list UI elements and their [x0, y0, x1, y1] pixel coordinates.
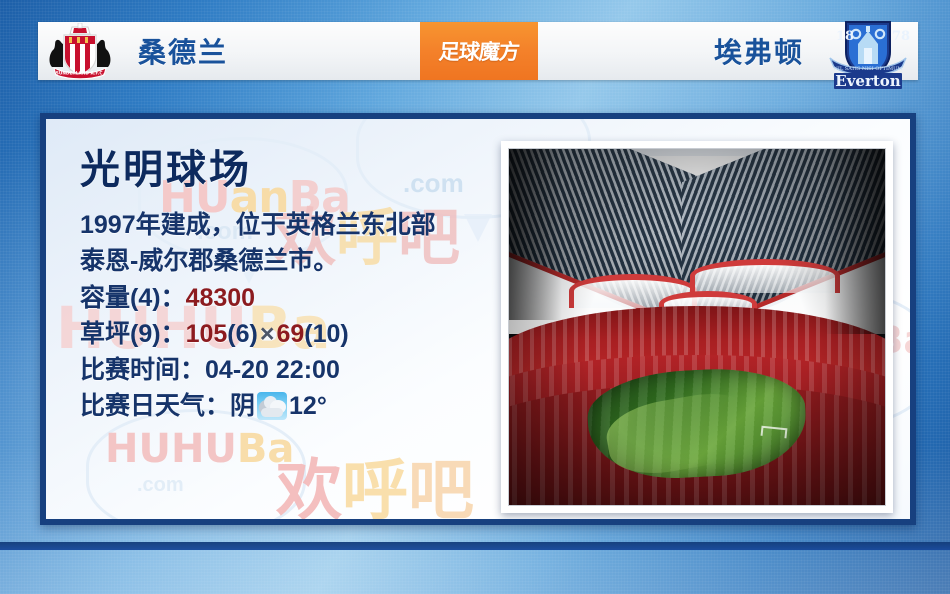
svg-text:Everton: Everton: [835, 72, 901, 90]
pitch-length-rank: (6): [227, 320, 258, 348]
everton-fc-crest: 18 78 NIL SATIS NISI OPTIMUM Everton: [820, 14, 916, 90]
watermark-cn-2: 欢呼吧: [276, 437, 474, 525]
weather-label: 比赛日天气：: [80, 392, 230, 420]
watermark-cn-huan-2: 欢: [276, 452, 342, 525]
pitch-length: 105: [186, 320, 228, 348]
weather-temperature: 12°: [289, 392, 327, 420]
stadium-info-card: HUanBa .com .com 欢呼吧 HUHUBa HUanBa .com …: [40, 113, 916, 525]
home-team-name: 桑德兰: [138, 31, 228, 71]
pitch-multiply-symbol: ×: [258, 320, 277, 348]
stadium-photo: [508, 148, 886, 506]
watermark-text-huhuba-2: HUHUBa: [105, 426, 294, 472]
pitch-size-line: 草坪(9)：105(6)×69(10): [80, 316, 510, 352]
pitch-width-rank: (10): [304, 320, 348, 348]
cloudy-icon: [257, 392, 287, 420]
sunderland-afc-crest: SUNDERLAND A.F.C.: [44, 23, 116, 79]
watermark-cn-ba-2: 吧: [408, 452, 474, 525]
capacity-value: 48300: [186, 284, 256, 312]
stadium-location-line: 泰恩-威尔郡桑德兰市。: [80, 243, 510, 279]
home-team-block[interactable]: SUNDERLAND A.F.C. 桑德兰: [38, 22, 228, 80]
footer-divider: [0, 542, 950, 550]
capacity-label: 容量(4)：: [80, 284, 186, 312]
match-weather-line: 比赛日天气：阴12°: [80, 388, 510, 424]
svg-text:SUNDERLAND A.F.C.: SUNDERLAND A.F.C.: [56, 71, 105, 77]
stadium-info-text: 光明球场 1997年建成，位于英格兰东北部 泰恩-威尔郡桑德兰市。 容量(4)：…: [80, 137, 510, 425]
photo-vignette: [509, 149, 885, 505]
match-stadium-infographic: SUNDERLAND A.F.C. 桑德兰 埃弗顿: [0, 0, 950, 594]
svg-text:78: 78: [892, 29, 910, 44]
stadium-built-line: 1997年建成，位于英格兰东北部: [80, 207, 510, 243]
stadium-photo-frame[interactable]: [501, 141, 893, 513]
away-team-name: 埃弗顿: [714, 31, 804, 71]
svg-text:18: 18: [836, 29, 854, 44]
away-team-block[interactable]: 埃弗顿 18 78 N: [714, 22, 918, 80]
watermark-cn-hu-2: 呼: [342, 452, 408, 525]
match-time-line: 比赛时间：04-20 22:00: [80, 352, 510, 388]
pitch-label: 草坪(9)：: [80, 320, 186, 348]
match-time-label: 比赛时间：: [80, 356, 205, 384]
stadium-title: 光明球场: [80, 137, 510, 195]
weather-condition: 阴: [230, 392, 255, 420]
brand-badge[interactable]: 足球魔方: [420, 22, 538, 80]
watermark-bubble-4: HUHUBa .com: [86, 409, 306, 525]
match-time-value: 04-20 22:00: [205, 356, 340, 384]
capacity-line: 容量(4)：48300: [80, 280, 510, 316]
watermark-latin-huhu-2: HUHU: [105, 426, 237, 472]
pitch-width: 69: [276, 320, 304, 348]
watermark-latin-ba-2: Ba: [237, 426, 294, 472]
watermark-dotcom-4: .com: [137, 474, 184, 497]
brand-badge-label: 足球魔方: [438, 36, 521, 66]
